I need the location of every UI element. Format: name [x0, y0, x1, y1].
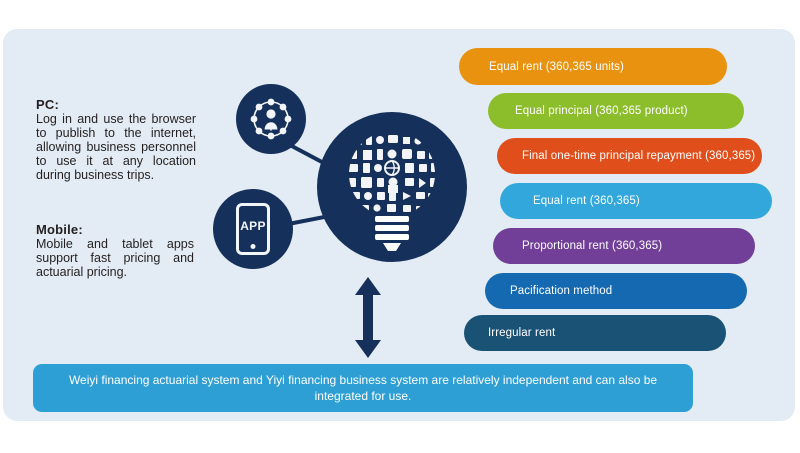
diagram-canvas: PC: Log in and use the browser to publis… [0, 0, 800, 453]
network-user-icon [236, 84, 306, 154]
mobile-text: Mobile and tablet apps support fast pric… [36, 237, 194, 279]
summary-banner-text: Weiyi financing actuarial system and Yiy… [53, 372, 673, 404]
pc-text: Log in and use the browser to publish to… [36, 112, 196, 182]
option-bar-label: Irregular rent [488, 327, 555, 339]
summary-banner: Weiyi financing actuarial system and Yiy… [33, 364, 693, 412]
idea-lightbulb-circle [317, 112, 467, 262]
smartphone-app-icon: APP [236, 203, 270, 255]
network-user-circle [236, 84, 306, 154]
option-bar-label: Pacification method [510, 285, 612, 297]
double-arrow-vertical-icon [348, 275, 388, 360]
pc-description-block: PC: Log in and use the browser to publis… [36, 97, 196, 182]
option-bar[interactable]: Pacification method [485, 273, 747, 309]
option-bar-label: Equal rent (360,365) [533, 195, 640, 207]
option-bar[interactable]: Final one-time principal repayment (360,… [497, 138, 762, 174]
pc-heading: PC: [36, 97, 196, 112]
app-label: APP [240, 219, 266, 233]
option-bar-label: Final one-time principal repayment (360,… [522, 150, 755, 162]
option-bar[interactable]: Equal principal (360,365 product) [488, 93, 744, 129]
option-bar-label: Proportional rent (360,365) [522, 240, 662, 252]
option-bar[interactable]: Proportional rent (360,365) [493, 228, 755, 264]
idea-lightbulb-icons-icon [317, 112, 467, 262]
mobile-description-block: Mobile: Mobile and tablet apps support f… [36, 222, 194, 279]
option-bar[interactable]: Equal rent (360,365) [500, 183, 772, 219]
option-bar-label: Equal rent (360,365 units) [489, 61, 624, 73]
phone-home-dot [251, 244, 256, 249]
option-bar[interactable]: Irregular rent [464, 315, 726, 351]
option-bar[interactable]: Equal rent (360,365 units) [459, 48, 727, 85]
mobile-app-circle: APP [213, 189, 293, 269]
option-bar-label: Equal principal (360,365 product) [515, 105, 688, 117]
mobile-heading: Mobile: [36, 222, 194, 237]
